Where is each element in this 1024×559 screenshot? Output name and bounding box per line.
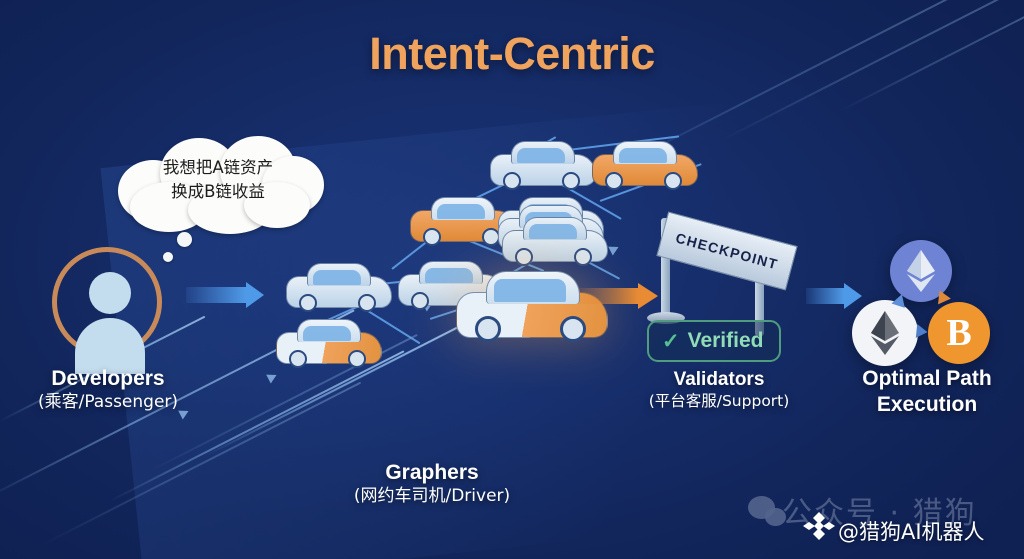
car-wheel (562, 172, 580, 190)
label-validators: Validators (平台客服/Support) (614, 368, 824, 411)
token-bitcoin: B (928, 302, 990, 364)
car-wheel (475, 316, 501, 342)
arrow-shaft (806, 288, 844, 304)
thought-line-2: 换成B链收益 (171, 182, 265, 201)
arrow-shaft (578, 288, 638, 304)
car-node (490, 136, 594, 190)
car-wheel (423, 228, 441, 246)
car-window (303, 326, 351, 341)
car-wheel (664, 172, 682, 190)
token-ethereum-lower (852, 300, 918, 366)
thought-line-1: 我想把A链资产 (163, 158, 273, 177)
car-node (286, 258, 390, 312)
label-validators-en: Validators (614, 368, 824, 392)
car-window (517, 148, 565, 163)
car-wheel (503, 172, 521, 190)
arrow-head-icon (246, 282, 264, 308)
label-optimal-path-execution: Optimal Path Execution (834, 366, 1020, 419)
label-developers-en: Developers (12, 366, 204, 392)
label-validators-cn: (平台客服/Support) (614, 392, 824, 412)
binance-diamond-icon (802, 509, 836, 543)
car-wheel (605, 172, 623, 190)
check-icon: ✓ (662, 331, 680, 352)
verified-badge: ✓ Verified (647, 320, 781, 362)
car-wheel (348, 350, 366, 368)
label-graphers-en: Graphers (326, 460, 538, 486)
car-wheel (358, 294, 376, 312)
thought-bubble-text: 我想把A链资产 换成B链收益 (112, 156, 324, 204)
bitcoin-icon: B (946, 314, 971, 352)
car-wheel (560, 316, 586, 342)
spark-icon (916, 324, 928, 339)
avatar-head-icon (89, 272, 131, 314)
ethereum-icon (906, 249, 936, 293)
label-graphers: Graphers (网约车司机/Driver) (326, 460, 538, 508)
bubble-trail-dot (177, 232, 192, 247)
label-execution-line2: Execution (834, 392, 1020, 418)
checkpoint-sign: CHECKPOINT (656, 211, 797, 290)
car-node (502, 212, 606, 266)
thought-bubble: 我想把A链资产 换成B链收益 (112, 136, 324, 228)
car-wheel (411, 292, 429, 310)
watermark-handle: @猎狗AI机器人 (838, 516, 985, 546)
car-window (494, 279, 566, 302)
label-developers: Developers (乘客/Passenger) (12, 366, 204, 414)
verified-label: Verified (688, 329, 764, 353)
label-graphers-cn: (网约车司机/Driver) (326, 486, 538, 507)
streak-arrow-icon (608, 243, 621, 256)
infographic-canvas: Intent-Centric 我想把A链资产 换成B链收益 (0, 0, 1024, 559)
arrow-head-icon (844, 283, 862, 309)
car-node (276, 314, 380, 368)
bubble-trail-dot (163, 252, 173, 262)
arrow-graphers-to-validators (578, 283, 658, 309)
car-node (592, 136, 696, 190)
arrow-developers-to-graphers (186, 282, 264, 308)
car-window (529, 224, 577, 239)
arrow-shaft (186, 287, 246, 303)
car-window (313, 270, 361, 285)
label-developers-cn: (乘客/Passenger) (12, 392, 204, 413)
arrow-head-icon (638, 283, 658, 309)
ethereum-icon (870, 310, 900, 356)
avatar (52, 247, 162, 357)
car-window (437, 204, 485, 219)
car-wheel (289, 350, 307, 368)
checkpoint-sign-text: CHECKPOINT (674, 230, 780, 273)
car-window (619, 148, 667, 163)
page-title: Intent-Centric (0, 28, 1024, 80)
label-execution-line1: Optimal Path (834, 366, 1020, 392)
streak-arrow-icon (266, 371, 279, 384)
car-wheel (299, 294, 317, 312)
arrow-validators-to-execution (806, 283, 862, 309)
